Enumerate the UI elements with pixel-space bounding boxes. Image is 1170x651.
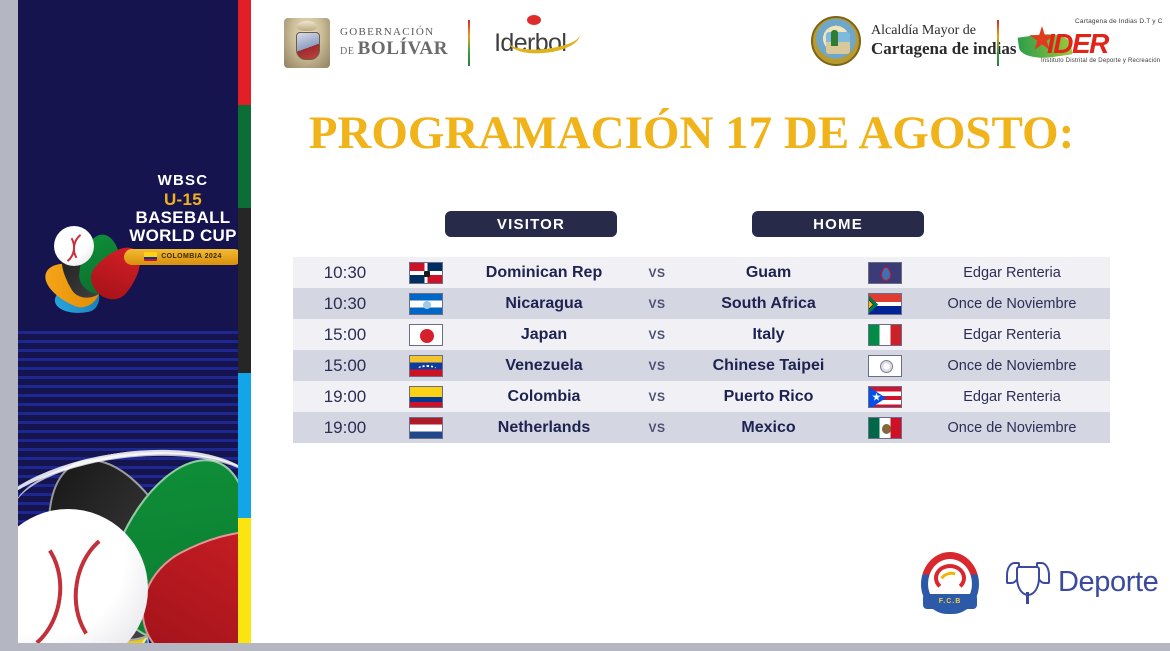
alcaldia-seal-icon: [811, 16, 861, 66]
baseball-label: BASEBALL: [136, 208, 231, 227]
cell-visitor-team: Venezuela: [455, 357, 633, 375]
deporte-label: Deporte: [1058, 566, 1158, 599]
iderbol-wordmark: Iderbol: [494, 29, 566, 58]
table-row[interactable]: 10:30Dominican RepVSGuamEdgar Renteria: [293, 257, 1110, 288]
top-logo-bar: GOBERNACIÓN DE BOLÍVAR Iderbol Alcaldía …: [251, 8, 1170, 78]
strip-band-yellow: [238, 518, 251, 651]
gobernacion-bolivar-logo: GOBERNACIÓN DE BOLÍVAR Iderbol: [284, 18, 566, 68]
mindeporte-emblem-icon: [1007, 558, 1049, 606]
dominican-rep-flag-icon: [409, 262, 443, 284]
strip-band-black: [238, 208, 251, 373]
column-header-home: HOME: [752, 211, 924, 237]
cell-visitor-flag: [397, 386, 455, 408]
cell-visitor-team: Nicaragua: [455, 295, 633, 313]
cell-home-team: Italy: [681, 326, 856, 344]
cell-time: 10:30: [293, 263, 397, 283]
host-label: COLOMBIA 2024: [161, 253, 222, 260]
cell-home-team: Chinese Taipei: [681, 357, 856, 375]
cell-time: 19:00: [293, 387, 397, 407]
cell-visitor-team: Netherlands: [455, 419, 633, 437]
table-row[interactable]: 19:00NetherlandsVSMexicoOnce de Noviembr…: [293, 412, 1110, 443]
alcaldia-line1: Alcaldía Mayor de: [871, 23, 1016, 39]
cell-home-team: Mexico: [681, 419, 856, 437]
table-row[interactable]: 15:00JapanVSItalyEdgar Renteria: [293, 319, 1110, 350]
cell-vs: VS: [633, 421, 681, 435]
colombia-flag-icon: [144, 252, 157, 261]
strip-band-red: [238, 0, 251, 105]
cell-time: 15:00: [293, 356, 397, 376]
world-cup-label: WORLD CUP: [124, 227, 238, 245]
ider-main-label: IDER: [1047, 28, 1108, 60]
south-africa-flag-icon: [868, 293, 902, 315]
cell-home-flag: [856, 417, 914, 439]
table-row[interactable]: 19:00ColombiaVSPuerto RicoEdgar Renteria: [293, 381, 1110, 412]
decorative-artwork: [18, 363, 238, 643]
cell-visitor-flag: [397, 417, 455, 439]
cell-home-flag: [856, 324, 914, 346]
cell-home-team: South Africa: [681, 295, 856, 313]
cell-vs: VS: [633, 297, 681, 311]
cell-venue: Edgar Renteria: [914, 327, 1110, 343]
cell-venue: Once de Noviembre: [914, 420, 1110, 436]
fcb-logo: F.C.B: [921, 552, 979, 614]
cell-visitor-team: Japan: [455, 326, 633, 344]
wbsc-wordmark: WBSC U-15 BASEBALL WORLD CUP COLOMBIA 20…: [124, 172, 238, 265]
cell-vs: VS: [633, 390, 681, 404]
cell-home-team: Puerto Rico: [681, 388, 856, 406]
main-content: GOBERNACIÓN DE BOLÍVAR Iderbol Alcaldía …: [251, 0, 1170, 643]
cell-visitor-team: Colombia: [455, 388, 633, 406]
table-row[interactable]: 15:00VenezuelaVSChinese TaipeiOnce de No…: [293, 350, 1110, 381]
mindeporte-logo: Deporte: [1007, 558, 1158, 606]
host-country-pill: COLOMBIA 2024: [124, 249, 238, 265]
cell-visitor-flag: [397, 262, 455, 284]
cell-home-flag: [856, 386, 914, 408]
chinese-taipei-flag-icon: [868, 355, 902, 377]
presentation-slide: WBSC U-15 BASEBALL WORLD CUP COLOMBIA 20…: [0, 0, 1170, 651]
nicaragua-flag-icon: [409, 293, 443, 315]
schedule-table: 10:30Dominican RepVSGuamEdgar Renteria10…: [293, 257, 1110, 443]
cell-home-flag: [856, 355, 914, 377]
puerto-rico-flag-icon: [868, 386, 902, 408]
mexico-flag-icon: [868, 417, 902, 439]
sidebar-panel: WBSC U-15 BASEBALL WORLD CUP COLOMBIA 20…: [18, 0, 238, 651]
column-header-visitor: VISITOR: [445, 211, 617, 237]
color-strip: [238, 0, 251, 651]
gobernacion-line2: BOLÍVAR: [358, 38, 448, 59]
cell-visitor-flag: [397, 324, 455, 346]
netherlands-flag-icon: [409, 417, 443, 439]
venezuela-flag-icon: [409, 355, 443, 377]
fcb-label: F.C.B: [939, 598, 962, 605]
ider-bottom-label: Instituto Distrital de Deporte y Recreac…: [1041, 58, 1160, 64]
cell-home-flag: [856, 293, 914, 315]
strip-band-green: [238, 105, 251, 208]
gobernacion-de: DE: [340, 46, 358, 57]
bolivar-crest-icon: [284, 18, 330, 68]
cell-vs: VS: [633, 266, 681, 280]
cell-visitor-team: Dominican Rep: [455, 264, 633, 282]
cell-venue: Once de Noviembre: [914, 358, 1110, 374]
logo-divider: [468, 20, 470, 66]
table-row[interactable]: 10:30NicaraguaVSSouth AfricaOnce de Novi…: [293, 288, 1110, 319]
page-title: PROGRAMACIÓN 17 DE AGOSTO:: [251, 106, 1132, 160]
colombia-flag-icon: [409, 386, 443, 408]
cell-time: 19:00: [293, 418, 397, 438]
wbsc-label: WBSC: [124, 172, 238, 189]
italy-flag-icon: [868, 324, 902, 346]
strip-band-cyan: [238, 373, 251, 518]
cell-home-team: Guam: [681, 264, 856, 282]
cell-vs: VS: [633, 328, 681, 342]
alcaldia-logo: Alcaldía Mayor de Cartagena de indias: [811, 16, 1016, 66]
iderbol-arc-icon: [507, 19, 582, 56]
frame-bottom-border: [0, 643, 1170, 651]
cell-venue: Edgar Renteria: [914, 265, 1110, 281]
japan-flag-icon: [409, 324, 443, 346]
cell-vs: VS: [633, 359, 681, 373]
guam-flag-icon: [868, 262, 902, 284]
cell-home-flag: [856, 262, 914, 284]
ider-logo: Cartagena de Indias D.T y C IDER Institu…: [1021, 14, 1166, 70]
cell-venue: Edgar Renteria: [914, 389, 1110, 405]
cell-venue: Once de Noviembre: [914, 296, 1110, 312]
baseball-icon: [54, 226, 94, 266]
cell-time: 10:30: [293, 294, 397, 314]
bottom-logo-bar: F.C.B Deporte: [921, 550, 1170, 618]
frame-left-border: [0, 0, 18, 651]
wbsc-petals-icon: [34, 174, 120, 270]
u15-label: U-15: [164, 190, 202, 209]
cell-visitor-flag: [397, 293, 455, 315]
cell-time: 15:00: [293, 325, 397, 345]
cell-visitor-flag: [397, 355, 455, 377]
wbsc-event-logo: WBSC U-15 BASEBALL WORLD CUP COLOMBIA 20…: [32, 168, 238, 278]
ider-top-label: Cartagena de Indias D.T y C: [1075, 18, 1163, 25]
alcaldia-line2: Cartagena de indias: [871, 39, 1016, 59]
